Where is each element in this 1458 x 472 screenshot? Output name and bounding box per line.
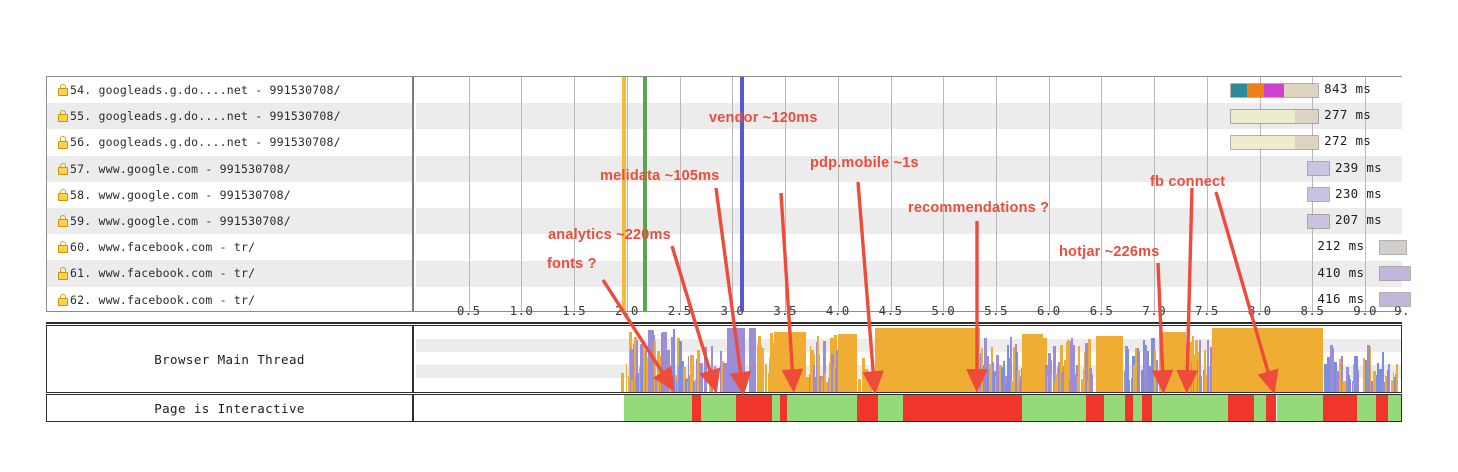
request-row-58[interactable]: 58. www.google.com - 991530708/ [47,182,412,208]
request-row-54[interactable]: 54. googleads.g.do....net - 991530708/ [47,77,412,103]
interactive-segment [1125,395,1133,421]
interactive-segment [1228,395,1254,421]
main-thread-slice [763,369,764,392]
request-label: 62. www.facebook.com - tr/ [70,293,255,307]
interactive-segment [1142,395,1153,421]
interactive-segment [416,395,624,421]
main-thread-activity [416,326,1401,392]
interactive-segment [701,395,736,421]
browser-main-thread-label: Browser Main Thread [47,326,414,392]
duration-label: 207 ms [1335,212,1382,227]
interactive-segment [1388,395,1401,421]
gridline [943,77,944,311]
waterfall-screenshot: 54. googleads.g.do....net - 991530708/55… [0,0,1458,472]
interactive-segments [416,395,1401,421]
request-row-60[interactable]: 60. www.facebook.com - tr/ [47,234,412,260]
browser-main-thread-panel: Browser Main Thread [46,325,1402,393]
request-bar[interactable] [1307,214,1330,229]
gridline [574,77,575,311]
request-row-61[interactable]: 61. www.facebook.com - tr/ [47,260,412,286]
main-thread-slice [1096,336,1122,392]
gridline [521,77,522,311]
request-label: 57. www.google.com - 991530708/ [70,162,291,176]
main-thread-slice [662,332,667,392]
gridline [1101,77,1102,311]
main-thread-slice [711,346,712,392]
request-row-62[interactable]: 62. www.facebook.com - tr/ [47,287,412,313]
duration-label: 410 ms [1317,265,1364,280]
request-bar[interactable] [1379,292,1411,307]
request-label: 59. www.google.com - 991530708/ [70,214,291,228]
request-bar[interactable] [1307,161,1330,176]
request-bar[interactable] [1379,240,1407,255]
interactive-segment [1266,395,1277,421]
lock-icon [58,136,68,148]
main-thread-slice [715,370,717,392]
page-is-interactive-label: Page is Interactive [47,395,414,421]
interactive-segment [692,395,700,421]
main-thread-slice [1327,357,1330,392]
request-label-column: 54. googleads.g.do....net - 991530708/55… [47,77,414,311]
request-bars: 843 ms277 ms272 ms239 ms230 ms207 ms212 … [416,77,1402,311]
interactive-segment [1277,395,1323,421]
request-bar[interactable] [1307,187,1330,202]
gridline [627,77,628,311]
main-thread-slice [621,373,625,392]
interactive-segment [1104,395,1125,421]
request-row-57[interactable]: 57. www.google.com - 991530708/ [47,156,412,182]
interactive-segment [857,395,878,421]
request-row-56[interactable]: 56. googleads.g.do....net - 991530708/ [47,129,412,155]
bar-segment [1308,188,1329,201]
start-render-marker [622,77,626,311]
main-thread-slice [1212,328,1323,392]
main-thread-slice [749,328,755,392]
main-thread-slice [1358,370,1360,392]
duration-label: 212 ms [1317,238,1364,253]
gridline [1049,77,1050,311]
bar-segment [1295,110,1318,123]
main-thread-slice [1159,332,1185,392]
interactive-segment [624,395,693,421]
bar-segment [1264,84,1284,97]
main-thread-slice [1149,366,1151,392]
request-label: 56. googleads.g.do....net - 991530708/ [70,135,341,149]
main-thread-slice [775,332,807,392]
main-thread-slice [1156,360,1158,392]
lock-icon [58,294,68,306]
request-label: 55. googleads.g.do....net - 991530708/ [70,109,341,123]
main-thread-slice [648,330,654,392]
request-label: 58. www.google.com - 991530708/ [70,188,291,202]
bar-segment [1308,162,1329,175]
bar-segment [1380,241,1406,254]
main-thread-slice [869,378,872,392]
interactive-segment [903,395,1022,421]
main-thread-slice [1051,375,1053,392]
duration-label: 239 ms [1335,160,1382,175]
annotation-pdp-mobile: pdp.mobile ~1s [810,155,919,171]
gridline [1154,77,1155,311]
interactive-segment [780,395,787,421]
duration-label: 416 ms [1317,291,1364,306]
main-thread-slice [1022,334,1043,392]
interactive-segment [1357,395,1376,421]
bar-segment [1380,293,1410,306]
annotation-fonts: fonts ? [547,256,597,272]
lock-icon [58,267,68,279]
main-thread-slice [875,328,980,392]
request-bar[interactable] [1230,83,1319,98]
bar-segment [1380,267,1410,280]
interactive-segment [772,395,779,421]
lock-icon [58,215,68,227]
interactive-segment [1022,395,1085,421]
main-thread-slice [727,328,745,392]
main-thread-slice [699,363,702,392]
gridline [469,77,470,311]
request-label: 60. www.facebook.com - tr/ [70,240,255,254]
lock-icon [58,241,68,253]
main-thread-slice [704,347,706,392]
bar-segment [1231,84,1247,97]
lock-icon [58,84,68,96]
lock-icon [58,189,68,201]
page-is-interactive-plot [416,395,1401,421]
lock-icon [58,163,68,175]
gridline [838,77,839,311]
interactive-segment [1323,395,1357,421]
duration-label: 277 ms [1324,107,1371,122]
request-bar[interactable] [1230,135,1319,150]
waterfall-plot-column: 843 ms277 ms272 ms239 ms230 ms207 ms212 … [416,77,1402,311]
interactive-segment [1086,395,1104,421]
interactive-segment [1254,395,1266,421]
interactive-segment [1152,395,1228,421]
bar-segment [1231,110,1294,123]
dom-content-loaded-marker [643,77,647,311]
main-thread-slice [1355,370,1356,393]
main-thread-slice [838,334,857,392]
main-thread-slice [1091,374,1093,392]
bar-segment [1295,136,1318,149]
request-label: 54. googleads.g.do....net - 991530708/ [70,83,341,97]
duration-label: 843 ms [1324,81,1371,96]
annotation-melidata: melidata ~105ms [600,168,719,184]
annotation-analytics: analytics ~220ms [548,227,671,243]
request-row-59[interactable]: 59. www.google.com - 991530708/ [47,208,412,234]
gridline [996,77,997,311]
main-thread-slice [1200,376,1202,392]
gridline [1207,77,1208,311]
lock-icon [58,110,68,122]
main-thread-slice [1396,364,1398,392]
gridline [891,77,892,311]
request-row-55[interactable]: 55. googleads.g.do....net - 991530708/ [47,103,412,129]
axis-baseline [46,322,1402,324]
annotation-vendor: vendor ~120ms [709,110,818,126]
interactive-segment [878,395,903,421]
main-thread-slice [1388,364,1391,392]
request-bar[interactable] [1379,266,1411,281]
bar-segment [1247,84,1264,97]
bar-segment [1308,215,1329,228]
gridline [680,77,681,311]
annotation-recommendations: recommendations ? [908,200,1049,216]
bar-segment [1231,136,1294,149]
request-bar[interactable] [1230,109,1319,124]
annotation-fb-connect: fb connect [1150,174,1225,190]
browser-main-thread-plot [416,326,1401,392]
interactive-segment [1133,395,1141,421]
page-is-interactive-panel: Page is Interactive [46,394,1402,422]
interactive-segment [736,395,773,421]
duration-label: 230 ms [1335,186,1382,201]
annotation-hotjar: hotjar ~226ms [1059,244,1160,260]
duration-label: 272 ms [1324,133,1371,148]
interactive-segment [1376,395,1389,421]
interactive-segment [796,395,857,421]
interactive-segment [787,395,795,421]
bar-segment [1284,84,1318,97]
main-thread-slice [1349,379,1350,392]
request-label: 61. www.facebook.com - tr/ [70,266,255,280]
